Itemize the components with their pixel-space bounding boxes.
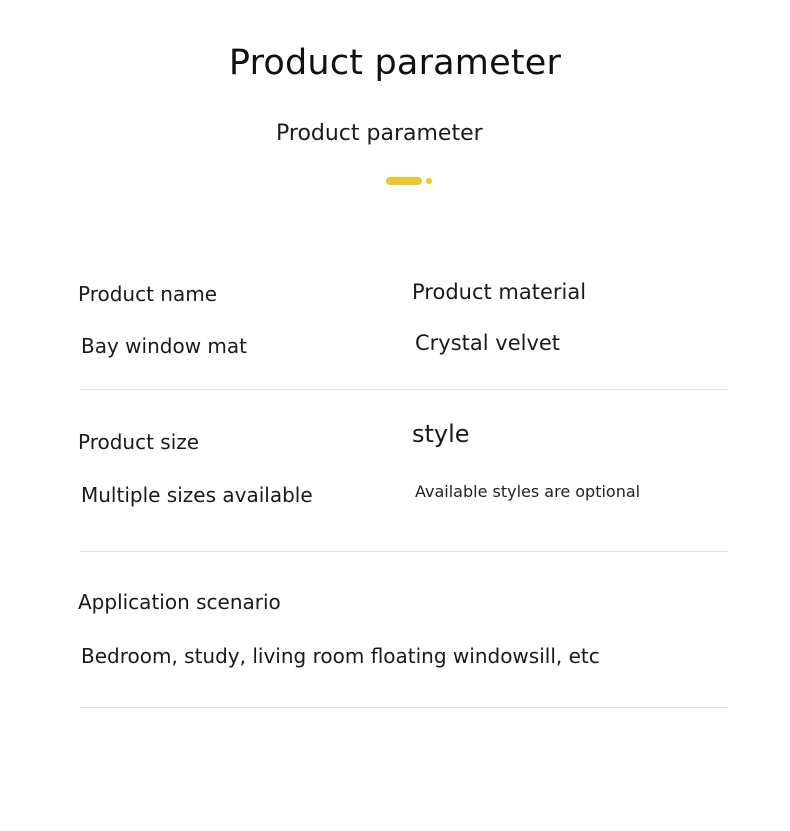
param-cell-application-scenario: Application scenario Bedroom, study, liv… [0,552,406,670]
param-label: Application scenario [78,588,406,616]
table-row: Product name Bay window mat Product mate… [0,262,790,390]
table-row: Product size Multiple sizes available st… [0,390,790,552]
param-cell-product-size: Product size Multiple sizes available [0,390,406,509]
param-value: Crystal velvet [412,329,790,357]
accent-divider [386,175,432,187]
param-cell-style: style Available styles are optional [406,390,790,509]
table-row: Application scenario Bedroom, study, liv… [0,552,790,708]
param-value: Bay window mat [78,332,406,360]
product-parameter-page: Product parameter Product parameter Prod… [0,0,790,831]
parameter-table: Product name Bay window mat Product mate… [0,262,790,708]
param-label: Product name [78,280,406,308]
accent-bar-icon [386,177,422,185]
param-label: style [412,420,790,448]
row-divider [80,707,728,708]
accent-dot-icon [426,178,432,184]
section-subtitle: Product parameter [276,119,483,149]
param-cell-empty [406,552,790,670]
param-cell-product-material: Product material Crystal velvet [406,262,790,360]
param-value: Bedroom, study, living room floating win… [78,642,406,670]
param-value: Multiple sizes available [78,481,406,509]
param-value: Available styles are optional [412,478,790,506]
param-label: Product size [78,428,406,456]
param-cell-product-name: Product name Bay window mat [0,262,406,360]
page-title: Product parameter [0,40,790,86]
param-label: Product material [412,278,790,306]
